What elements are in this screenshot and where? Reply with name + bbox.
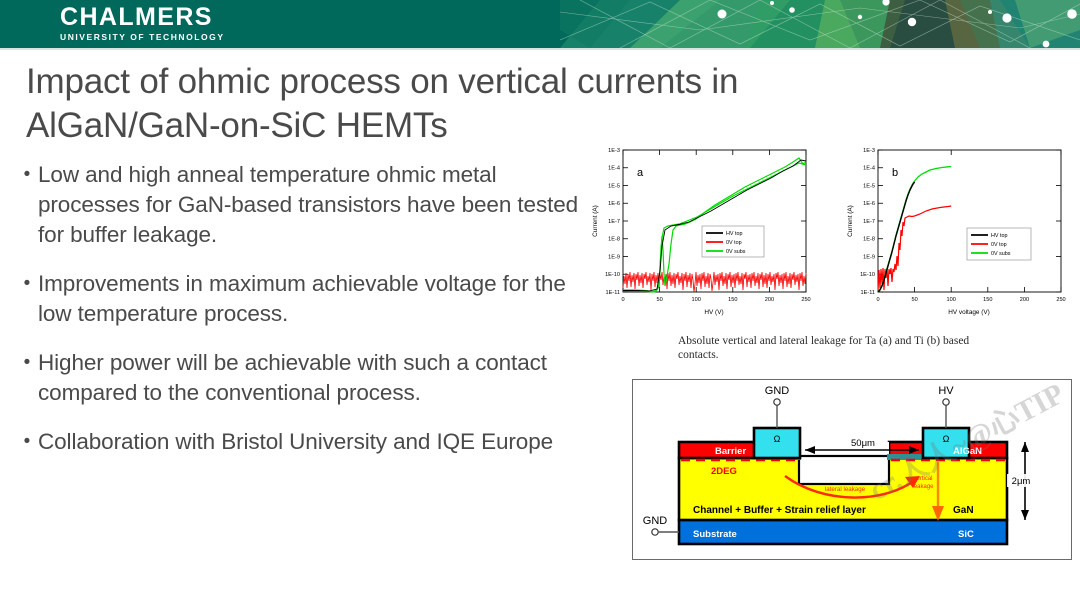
bullet-text: Collaboration with Bristol University an…	[38, 427, 553, 457]
x-axis-label: HV (V)	[704, 309, 723, 316]
y-tick-label: 1E-6	[608, 201, 620, 207]
list-item: • Collaboration with Bristol University …	[16, 427, 586, 457]
banner-decorative-graphic	[560, 0, 1080, 48]
legend-label: HV top	[726, 231, 742, 237]
bullet-marker: •	[16, 348, 38, 408]
header-banner: CHALMERS UNIVERSITY OF TECHNOLOGY	[0, 0, 1080, 48]
bullet-text: Higher power will be achievable with suc…	[38, 348, 586, 408]
vertical-leakage-label-line2: leakage	[912, 484, 934, 490]
y-tick-label: 1E-8	[608, 237, 620, 243]
y-tick-label: 1E-11	[860, 290, 875, 296]
substrate-label: Substrate	[693, 529, 737, 540]
ohm-symbol-left: Ω	[774, 434, 781, 444]
y-tick-label: 1E-3	[608, 148, 620, 154]
chart-panel-a: 1E-3 1E-4 1E-5 1E-6 1E-7 1E-8 1E-9 1E-10…	[575, 138, 825, 328]
y-axis-label: Current (A)	[592, 205, 599, 237]
bullet-marker: •	[16, 269, 38, 329]
y-axis-label: Current (A)	[847, 205, 854, 237]
x-tick-label: 200	[765, 297, 774, 303]
bullet-list: • Low and high anneal temperature ohmic …	[16, 160, 586, 476]
x-tick-label: 50	[656, 297, 662, 303]
lateral-leakage-label: lateral leakage	[825, 486, 866, 493]
series-0v-subs	[623, 158, 806, 292]
page-title: Impact of ohmic process on vertical curr…	[26, 60, 926, 148]
y-tick-label: 1E-5	[863, 184, 875, 190]
list-item: • Improvements in maximum achievable vol…	[16, 269, 586, 329]
dimension-vertical-label: 2μm	[1012, 476, 1031, 487]
two-deg-label: 2DEG	[711, 466, 737, 477]
x-tick-label: 100	[692, 297, 701, 303]
gan-label: GaN	[953, 505, 974, 516]
y-tick-label: 1E-9	[863, 255, 875, 261]
list-item: • Higher power will be achievable with s…	[16, 348, 586, 408]
series-0v-top	[878, 206, 951, 292]
x-axis-label: HV voltage (V)	[948, 309, 990, 316]
y-tick-label: 1E-6	[863, 201, 875, 207]
banner-divider	[0, 48, 1080, 50]
legend-label: 0V top	[726, 240, 742, 246]
dimension-horizontal-label: 50μm	[851, 438, 875, 449]
sic-label: SiC	[958, 529, 974, 540]
panel-label-a: a	[637, 167, 644, 179]
series-hv-top	[623, 160, 806, 291]
ohm-symbol-right: Ω	[943, 434, 950, 444]
x-tick-label: 250	[801, 297, 810, 303]
y-tick-label: 1E-7	[863, 219, 875, 225]
leakage-chart-pair: 1E-3 1E-4 1E-5 1E-6 1E-7 1E-8 1E-9 1E-10…	[575, 138, 1075, 328]
panel-label-b: b	[892, 167, 898, 179]
list-item: • Low and high anneal temperature ohmic …	[16, 160, 586, 250]
bullet-marker: •	[16, 427, 38, 457]
chalmers-logo: CHALMERS UNIVERSITY OF TECHNOLOGY	[60, 4, 225, 43]
bullet-marker: •	[16, 160, 38, 250]
x-tick-label: 0	[876, 297, 879, 303]
y-tick-label: 1E-8	[863, 237, 875, 243]
x-tick-label: 250	[1056, 297, 1065, 303]
logo-wordmark: CHALMERS	[60, 4, 225, 30]
bullet-text: Low and high anneal temperature ohmic me…	[38, 160, 586, 250]
series-0v-top	[623, 272, 806, 292]
legend-label: 0V subs	[726, 249, 746, 255]
chart-legend: HV top 0V top 0V subs	[967, 228, 1031, 260]
algan-label: AlGaN	[953, 446, 982, 457]
x-tick-label: 150	[728, 297, 737, 303]
legend-label: 0V subs	[991, 251, 1011, 257]
gnd-top-label: GND	[765, 385, 790, 397]
x-tick-label: 50	[911, 297, 917, 303]
y-tick-label: 1E-5	[608, 184, 620, 190]
figure-caption: Absolute vertical and lateral leakage fo…	[678, 334, 1008, 362]
x-tick-label: 100	[947, 297, 956, 303]
vertical-leakage-label-line1: vertical	[913, 476, 932, 482]
barrier-label: Barrier	[715, 446, 746, 457]
bulk-label: Channel + Buffer + Strain relief layer	[693, 505, 866, 516]
x-tick-label: 0	[621, 297, 624, 303]
x-tick-label: 150	[983, 297, 992, 303]
chart-panel-b: 1E-3 1E-4 1E-5 1E-6 1E-7 1E-8 1E-9 1E-10…	[830, 138, 1075, 328]
gnd-left-label: GND	[643, 515, 668, 527]
y-tick-label: 1E-4	[608, 166, 620, 172]
bullet-text: Improvements in maximum achievable volta…	[38, 269, 586, 329]
chart-legend: HV top 0V top 0V subs	[702, 226, 764, 257]
y-tick-label: 1E-4	[863, 166, 875, 172]
logo-tagline: UNIVERSITY OF TECHNOLOGY	[60, 31, 225, 43]
legend-label: HV top	[991, 233, 1007, 239]
slide: CHALMERS UNIVERSITY OF TECHNOLOGY Impact…	[0, 0, 1080, 608]
y-tick-label: 1E-10	[860, 272, 875, 278]
legend-label: 0V top	[991, 242, 1007, 248]
y-tick-label: 1E-9	[608, 255, 620, 261]
y-tick-label: 1E-3	[863, 148, 875, 154]
hv-top-label: HV	[938, 385, 954, 397]
device-cross-section-diagram: Ω GND Ω HV GND	[632, 379, 1072, 560]
y-tick-label: 1E-11	[605, 290, 620, 296]
y-tick-label: 1E-10	[605, 272, 620, 278]
y-tick-label: 1E-7	[608, 219, 620, 225]
x-tick-label: 200	[1020, 297, 1029, 303]
